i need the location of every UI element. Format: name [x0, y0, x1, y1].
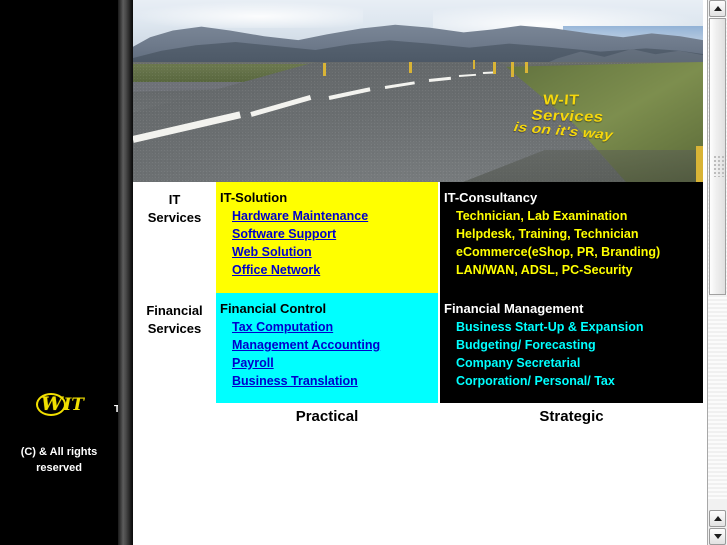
cell-it-solution: IT-Solution Hardware Maintenance Softwar…: [216, 182, 438, 293]
scrollbar-grip: [713, 155, 724, 177]
list-item[interactable]: Hardware Maintenance: [232, 207, 438, 225]
left-sidebar: WIT TM (C) & All rights reserved: [0, 0, 118, 545]
hero-road-image: W-IT Services is on it's way: [133, 0, 703, 182]
list-item[interactable]: Payroll: [232, 354, 438, 372]
cell-title-it-consultancy: IT-Consultancy: [444, 190, 703, 205]
site-logo[interactable]: WIT TM: [0, 393, 118, 417]
list-item: Company Secretarial: [456, 354, 703, 372]
cell-it-consultancy: IT-Consultancy Technician, Lab Examinati…: [440, 182, 703, 293]
chevron-up-icon: [714, 516, 722, 521]
roadside-post: [525, 62, 528, 73]
link-payroll[interactable]: Payroll: [232, 356, 274, 370]
roadside-post: [473, 60, 475, 69]
column-caption-practical: Practical: [216, 408, 438, 425]
copyright-notice: (C) & All rights reserved: [0, 444, 118, 476]
cell-title-financial-management: Financial Management: [444, 301, 703, 316]
row-label-line-2: Services: [133, 320, 216, 338]
financial-management-list: Business Start-Up & Expansion Budgeting/…: [442, 318, 703, 390]
table-row: Financial Services Financial Control Tax…: [133, 293, 703, 403]
main-content: W-IT Services is on it's way IT Services…: [133, 0, 703, 545]
column-caption-strategic: Strategic: [440, 408, 703, 425]
roadside-post: [511, 62, 514, 77]
link-hardware-maintenance[interactable]: Hardware Maintenance: [232, 209, 368, 223]
services-matrix: IT Services IT-Solution Hardware Mainten…: [133, 182, 703, 403]
it-solution-list: Hardware Maintenance Software Support We…: [218, 207, 438, 279]
link-software-support[interactable]: Software Support: [232, 227, 336, 241]
row-label-line-1: IT: [133, 191, 216, 209]
logo-mark: WIT TM: [34, 393, 84, 417]
roadside-post: [493, 62, 496, 74]
row-label-line-2: Services: [133, 209, 216, 227]
list-item: Technician, Lab Examination: [456, 207, 703, 225]
cell-financial-control: Financial Control Tax Computation Manage…: [216, 293, 438, 403]
it-consultancy-list: Technician, Lab Examination Helpdesk, Tr…: [442, 207, 703, 279]
link-web-solution[interactable]: Web Solution: [232, 245, 312, 259]
table-row: IT Services IT-Solution Hardware Mainten…: [133, 182, 703, 293]
copyright-line-2: reserved: [0, 460, 118, 476]
list-item: Business Start-Up & Expansion: [456, 318, 703, 336]
matrix-footer: Practical Strategic: [133, 403, 703, 437]
list-item[interactable]: Tax Computation: [232, 318, 438, 336]
row-label-it-services: IT Services: [133, 182, 216, 293]
cell-financial-management: Financial Management Business Start-Up &…: [440, 293, 703, 403]
list-item[interactable]: Office Network: [232, 261, 438, 279]
list-item[interactable]: Software Support: [232, 225, 438, 243]
row-label-line-1: Financial: [133, 302, 216, 320]
list-item: Helpdesk, Training, Technician: [456, 225, 703, 243]
vertical-divider: [118, 0, 133, 545]
link-office-network[interactable]: Office Network: [232, 263, 320, 277]
link-management-accounting[interactable]: Management Accounting: [232, 338, 380, 352]
row-label-financial-services: Financial Services: [133, 293, 216, 403]
roadside-post: [409, 62, 412, 73]
list-item: Budgeting/ Forecasting: [456, 336, 703, 354]
list-item: LAN/WAN, ADSL, PC-Security: [456, 261, 703, 279]
list-item: Corporation/ Personal/ Tax: [456, 372, 703, 390]
logo-letters-it: IT: [63, 394, 84, 417]
scrollbar-thumb[interactable]: [709, 18, 726, 295]
list-item[interactable]: Management Accounting: [232, 336, 438, 354]
financial-control-list: Tax Computation Management Accounting Pa…: [218, 318, 438, 390]
cell-title-it-solution: IT-Solution: [220, 190, 438, 205]
roadside-post: [696, 146, 703, 182]
copyright-line-1: (C) & All rights: [0, 444, 118, 460]
logo-ellipse-icon: [36, 393, 66, 416]
roadside-post: [323, 63, 326, 76]
list-item[interactable]: Business Translation: [232, 372, 438, 390]
link-business-translation[interactable]: Business Translation: [232, 374, 358, 388]
scroll-down-button[interactable]: [709, 528, 726, 545]
chevron-down-icon: [714, 534, 722, 539]
cloud-left: [133, 2, 363, 28]
scroll-up-button-bottom[interactable]: [709, 510, 726, 527]
list-item[interactable]: Web Solution: [232, 243, 438, 261]
chevron-up-icon: [714, 6, 722, 11]
link-tax-computation[interactable]: Tax Computation: [232, 320, 333, 334]
scroll-up-button[interactable]: [709, 0, 726, 17]
list-item: eCommerce(eShop, PR, Branding): [456, 243, 703, 261]
cell-title-financial-control: Financial Control: [220, 301, 438, 316]
vertical-scrollbar[interactable]: [707, 0, 727, 545]
